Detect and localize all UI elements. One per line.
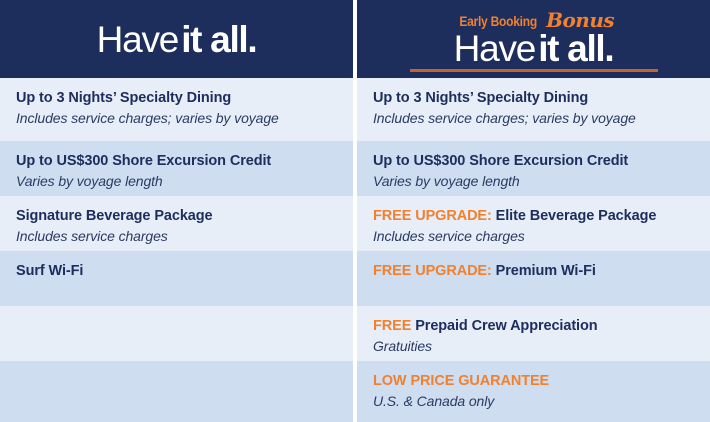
benefit-title-text: Up to 3 Nights’ Specialty Dining <box>16 90 231 106</box>
benefit-title-text: Up to US$300 Shore Excursion Credit <box>16 153 271 169</box>
benefit-row: Signature Beverage Package Includes serv… <box>0 196 353 251</box>
benefit-title: Up to US$300 Shore Excursion Credit <box>16 152 353 170</box>
eyebrow-early-booking: Early Booking <box>459 14 537 28</box>
early-booking-bonus-eyebrow: Early Booking Bonus <box>453 9 614 29</box>
benefit-title-text: Prepaid Crew Appreciation <box>415 318 597 334</box>
benefit-row: Surf Wi-Fi <box>0 251 353 306</box>
logo-word-it-all: it all. <box>181 21 256 58</box>
column-early-booking-bonus: Early Booking Bonus Have it all. Up to 3… <box>357 0 710 422</box>
benefit-row: FREE UPGRADE: Premium Wi-Fi <box>357 251 710 306</box>
benefit-title: FREE UPGRADE: Elite Beverage Package <box>373 207 710 225</box>
benefit-title: Surf Wi-Fi <box>16 262 353 280</box>
have-it-all-logo: Have it all. <box>454 30 614 67</box>
benefit-subtitle: Includes service charges; varies by voya… <box>373 109 710 127</box>
benefit-title-text: Premium Wi-Fi <box>496 263 596 279</box>
benefit-title: FREE UPGRADE: Premium Wi-Fi <box>373 262 710 280</box>
benefit-subtitle: Includes service charges; varies by voya… <box>16 109 353 127</box>
benefit-title-text: Elite Beverage Package <box>496 208 657 224</box>
benefit-row: Up to US$300 Shore Excursion Credit Vari… <box>357 141 710 196</box>
column-bonus-header: Early Booking Bonus Have it all. <box>357 0 710 78</box>
column-standard: Have it all. Up to 3 Nights’ Specialty D… <box>0 0 353 422</box>
benefit-highlight: FREE UPGRADE: <box>373 263 496 279</box>
benefit-title: Up to US$300 Shore Excursion Credit <box>373 152 710 170</box>
benefit-title-text: Surf Wi-Fi <box>16 263 83 279</box>
eyebrow-bonus-script: Bonus <box>546 10 614 30</box>
benefit-row-empty <box>0 306 353 361</box>
benefit-highlight: FREE UPGRADE: <box>373 208 496 224</box>
benefit-subtitle: Includes service charges <box>16 227 353 245</box>
benefit-row: Up to 3 Nights’ Specialty Dining Include… <box>0 78 353 141</box>
benefit-title: LOW PRICE GUARANTEE <box>373 372 710 390</box>
benefit-row-empty <box>0 361 353 422</box>
benefit-title: Signature Beverage Package <box>16 207 353 225</box>
benefit-title-text: Up to US$300 Shore Excursion Credit <box>373 153 628 169</box>
benefit-highlight: LOW PRICE GUARANTEE <box>373 373 549 389</box>
benefit-title: Up to 3 Nights’ Specialty Dining <box>16 89 353 107</box>
benefit-row: LOW PRICE GUARANTEE U.S. & Canada only <box>357 361 710 422</box>
have-it-all-logo: Have it all. <box>97 21 257 58</box>
logo-word-have: Have <box>454 30 536 67</box>
logo-underline-rule <box>410 69 658 72</box>
benefit-subtitle: Varies by voyage length <box>373 172 710 190</box>
benefit-row: Up to 3 Nights’ Specialty Dining Include… <box>357 78 710 141</box>
benefit-subtitle: Varies by voyage length <box>16 172 353 190</box>
benefit-title: FREE Prepaid Crew Appreciation <box>373 317 710 335</box>
benefit-subtitle: Includes service charges <box>373 227 710 245</box>
benefit-row: Up to US$300 Shore Excursion Credit Vari… <box>0 141 353 196</box>
logo-word-have: Have <box>97 21 179 58</box>
column-standard-header: Have it all. <box>0 0 353 78</box>
benefit-subtitle: Gratuities <box>373 337 710 355</box>
benefit-row: FREE UPGRADE: Elite Beverage Package Inc… <box>357 196 710 251</box>
benefit-row: FREE Prepaid Crew Appreciation Gratuitie… <box>357 306 710 361</box>
benefit-title-text: Up to 3 Nights’ Specialty Dining <box>373 90 588 106</box>
benefit-title-text: Signature Beverage Package <box>16 208 212 224</box>
benefit-highlight: FREE <box>373 318 415 334</box>
logo-word-it-all: it all. <box>538 30 613 67</box>
have-it-all-comparison-table: Have it all. Up to 3 Nights’ Specialty D… <box>0 0 710 422</box>
benefit-subtitle: U.S. & Canada only <box>373 392 710 410</box>
benefit-title: Up to 3 Nights’ Specialty Dining <box>373 89 710 107</box>
